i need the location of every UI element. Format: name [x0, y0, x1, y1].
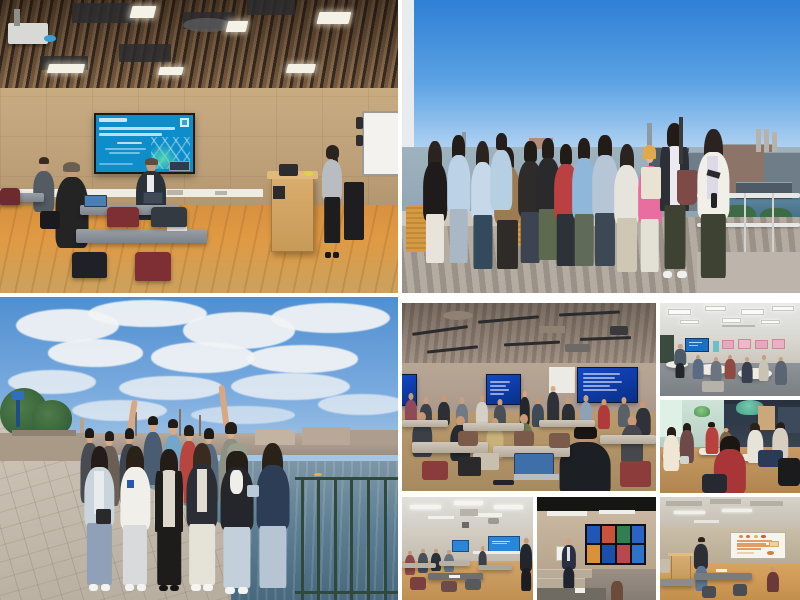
person-group-member [446, 138, 472, 261]
panel-lecture-room-seminar [0, 0, 398, 293]
person-attendee [598, 399, 611, 429]
wall-display [685, 338, 709, 352]
person-attendee [418, 549, 428, 574]
person-attendee [724, 355, 735, 379]
person-presenter [520, 538, 533, 590]
panel-lecture-room-orange-slide [660, 497, 800, 600]
panel-waterfront-group-photo [0, 297, 398, 600]
person-group-member [490, 135, 514, 217]
person-attendee [710, 357, 721, 381]
photo-collage [0, 0, 800, 600]
person-group-member [422, 144, 448, 261]
person-attendee [741, 357, 752, 383]
person-group-member [153, 452, 185, 591]
person-group-member [697, 132, 731, 284]
person-presenter [318, 147, 346, 258]
panel-rooftop-group-photo [402, 0, 800, 293]
person-group-member [255, 445, 291, 593]
person-presenter [694, 538, 709, 590]
person-speaker [561, 538, 576, 587]
person-attendee [32, 158, 56, 211]
person-group-member [219, 449, 255, 594]
panel-large-lecture-hall [402, 303, 656, 491]
person-speaker [547, 386, 560, 424]
person-presenter [674, 344, 687, 377]
panel-cafe-lounge-discussion [660, 400, 800, 493]
panel-speaker-photo-collage-slide [537, 497, 656, 600]
person-attendee [663, 428, 680, 471]
projection-screen [730, 532, 786, 559]
panel-modern-classroom-presenter [402, 497, 533, 600]
person-attendee [758, 355, 769, 381]
projection-slide-collage [585, 524, 647, 565]
panel-bright-classroom-round-tables [660, 303, 800, 396]
person-attendee [775, 357, 788, 385]
person-attendee [692, 355, 703, 379]
person-group-member [119, 449, 151, 591]
person-group-member [185, 445, 219, 590]
person-attendee [766, 567, 779, 592]
